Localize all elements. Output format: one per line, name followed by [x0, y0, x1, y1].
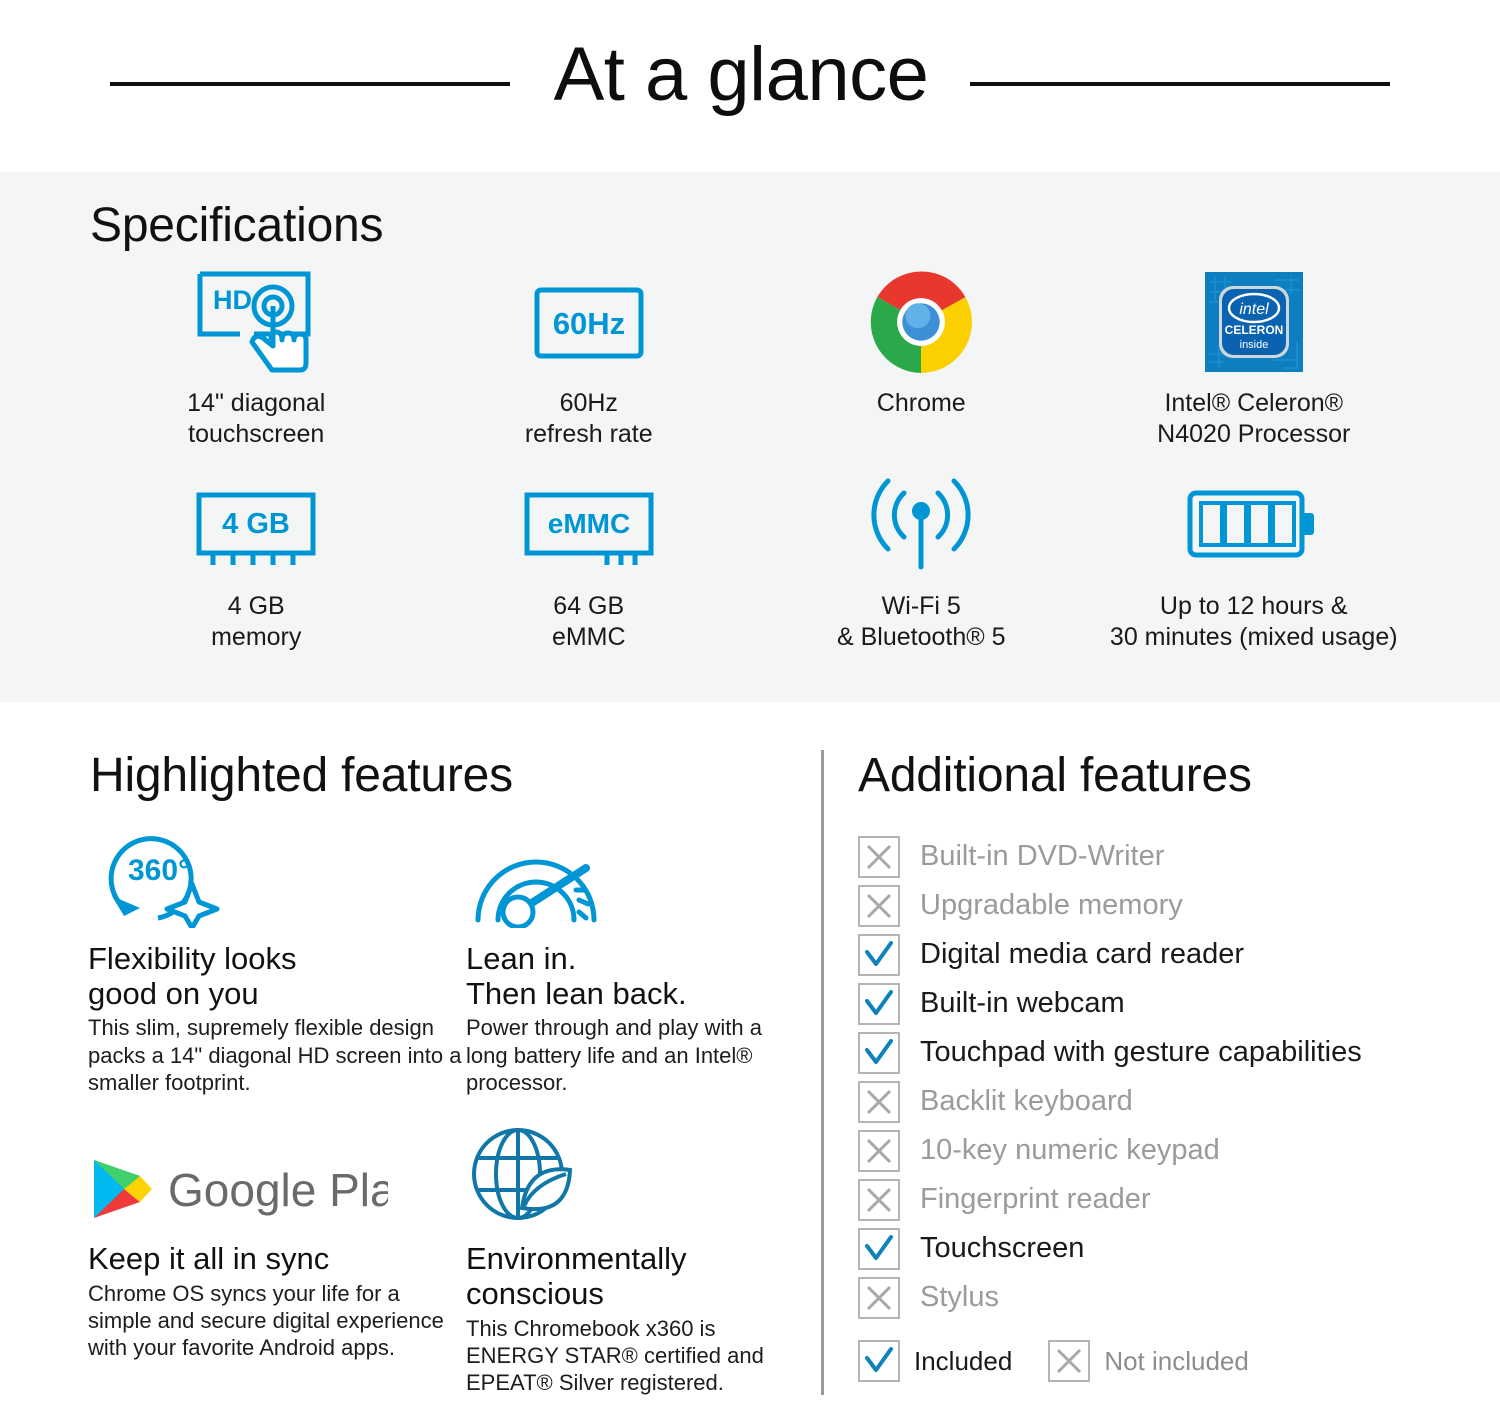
wifi-signal-icon [860, 471, 982, 579]
svg-text:60Hz: 60Hz [553, 306, 625, 341]
highlighted-feature-flexibility: 360° Flexibility looks good on you This … [88, 824, 466, 1096]
svg-text:eMMC: eMMC [548, 508, 630, 539]
cross-icon [1048, 1340, 1090, 1382]
additional-feature-row[interactable]: Built-in DVD-Writer [858, 832, 1458, 881]
additional-feature-row[interactable]: Backlit keyboard [858, 1077, 1458, 1126]
legend-included-label: Included [914, 1346, 1012, 1377]
cross-icon [858, 1130, 900, 1172]
highlighted-feature-performance-body: Power through and play with a long batte… [466, 1014, 798, 1096]
additional-feature-row[interactable]: Touchscreen [858, 1224, 1458, 1273]
additional-feature-row[interactable]: Touchpad with gesture capabilities [858, 1028, 1458, 1077]
features-section: Highlighted features Additional features… [0, 736, 1500, 1406]
highlighted-feature-environment-body: This Chromebook x360 is ENERGY STAR® cer… [466, 1315, 798, 1397]
spec-item-storage: eMMC 64 GB eMMC [423, 471, 756, 652]
spec-item-display: HD 14" diagonal touchscreen [90, 268, 423, 449]
column-divider [821, 750, 824, 1395]
additional-feature-label: Built-in webcam [920, 989, 1125, 1018]
google-play-logo-icon: Google Play [88, 1124, 466, 1228]
header-rule-left [110, 82, 510, 86]
check-icon [858, 1032, 900, 1074]
intel-celeron-badge-icon: intel CELERON inside [1205, 268, 1303, 376]
highlighted-feature-environment: Environmentally conscious This Chromeboo… [466, 1124, 798, 1396]
additional-feature-row[interactable]: Built-in webcam [858, 979, 1458, 1028]
highlighted-feature-performance: Lean in. Then lean back. Power through a… [466, 824, 798, 1096]
check-icon [858, 934, 900, 976]
svg-text:CELERON: CELERON [1224, 323, 1283, 337]
spec-item-processor: intel CELERON inside Intel® Celeron® N40… [1088, 268, 1421, 449]
additional-feature-row[interactable]: Digital media card reader [858, 930, 1458, 979]
legend-not-included-label: Not included [1104, 1346, 1249, 1377]
additional-feature-label: Upgradable memory [920, 891, 1183, 920]
additional-feature-label: 10-key numeric keypad [920, 1136, 1220, 1165]
360-rotate-icon: 360° [88, 824, 466, 928]
spec-item-wireless-label: Wi-Fi 5 & Bluetooth® 5 [837, 591, 1006, 652]
cross-icon [858, 885, 900, 927]
header-rule-right [970, 82, 1390, 86]
spec-item-memory-label: 4 GB memory [211, 591, 301, 652]
svg-text:inside: inside [1239, 339, 1268, 351]
additional-feature-row[interactable]: 10-key numeric keypad [858, 1126, 1458, 1175]
spec-item-memory: 4 GB 4 GB memory [90, 471, 423, 652]
features-legend: Included Not included [858, 1340, 1249, 1382]
highlighted-feature-sync-body: Chrome OS syncs your life for a simple a… [88, 1280, 466, 1362]
additional-feature-label: Stylus [920, 1283, 999, 1312]
page-header: At a glance [0, 0, 1500, 150]
globe-leaf-icon [466, 1124, 798, 1228]
specifications-panel: Specifications HD 14" diagonal touchscre… [0, 172, 1500, 702]
highlighted-features-title: Highlighted features [90, 748, 513, 803]
additional-feature-label: Touchscreen [920, 1234, 1084, 1263]
highlighted-feature-flexibility-heading: Flexibility looks good on you [88, 942, 466, 1011]
additional-feature-row[interactable]: Upgradable memory [858, 881, 1458, 930]
highlighted-features-grid: 360° Flexibility looks good on you This … [88, 824, 798, 1396]
highlighted-feature-environment-heading: Environmentally conscious [466, 1242, 798, 1311]
additional-feature-label: Built-in DVD-Writer [920, 842, 1164, 871]
svg-text:4 GB: 4 GB [222, 508, 290, 540]
check-icon [858, 983, 900, 1025]
highlighted-feature-sync-heading: Keep it all in sync [88, 1242, 466, 1277]
memory-module-icon: 4 GB [191, 471, 321, 579]
spec-item-refresh-rate-label: 60Hz refresh rate [525, 388, 653, 449]
page-title: At a glance [554, 37, 929, 113]
refresh-rate-icon: 60Hz [531, 268, 647, 376]
highlighted-feature-performance-heading: Lean in. Then lean back. [466, 942, 798, 1011]
spec-item-battery: Up to 12 hours & 30 minutes (mixed usage… [1088, 471, 1421, 652]
svg-text:intel: intel [1239, 301, 1269, 318]
additional-features-title: Additional features [858, 748, 1252, 803]
additional-feature-label: Backlit keyboard [920, 1087, 1133, 1116]
chrome-logo-icon [869, 268, 973, 376]
battery-icon [1184, 471, 1324, 579]
spec-item-os-label: Chrome [877, 388, 966, 419]
additional-features-list: Built-in DVD-Writer Upgradable memory Di… [858, 832, 1458, 1322]
additional-feature-label: Fingerprint reader [920, 1185, 1151, 1214]
emmc-storage-icon: eMMC [519, 471, 659, 579]
spec-item-os: Chrome [755, 268, 1088, 449]
spec-item-battery-label: Up to 12 hours & 30 minutes (mixed usage… [1110, 591, 1398, 652]
specifications-grid: HD 14" diagonal touchscreen 60Hz 60Hz [90, 268, 1420, 652]
additional-feature-row[interactable]: Fingerprint reader [858, 1175, 1458, 1224]
spec-item-storage-label: 64 GB eMMC [552, 591, 626, 652]
at-a-glance-page: At a glance Specifications HD 14" d [0, 0, 1500, 1406]
spec-item-processor-label: Intel® Celeron® N4020 Processor [1157, 388, 1350, 449]
svg-text:HD: HD [213, 285, 252, 315]
additional-feature-label: Touchpad with gesture capabilities [920, 1038, 1362, 1067]
check-icon [858, 1228, 900, 1270]
cross-icon [858, 1277, 900, 1319]
spec-item-refresh-rate: 60Hz 60Hz refresh rate [423, 268, 756, 449]
cross-icon [858, 1081, 900, 1123]
hd-touchscreen-icon: HD [190, 268, 322, 376]
additional-feature-row[interactable]: Stylus [858, 1273, 1458, 1322]
check-icon [858, 1340, 900, 1382]
spec-item-display-label: 14" diagonal touchscreen [187, 388, 325, 449]
highlighted-feature-flexibility-body: This slim, supremely flexible design pac… [88, 1014, 466, 1096]
speedometer-icon [466, 824, 798, 928]
svg-text:Google Play: Google Play [168, 1164, 388, 1216]
svg-text:360°: 360° [128, 854, 190, 887]
specifications-title: Specifications [90, 198, 383, 253]
cross-icon [858, 836, 900, 878]
additional-feature-label: Digital media card reader [920, 940, 1244, 969]
spec-item-wireless: Wi-Fi 5 & Bluetooth® 5 [755, 471, 1088, 652]
highlighted-feature-sync: Google Play Keep it all in sync Chrome O… [88, 1124, 466, 1396]
cross-icon [858, 1179, 900, 1221]
